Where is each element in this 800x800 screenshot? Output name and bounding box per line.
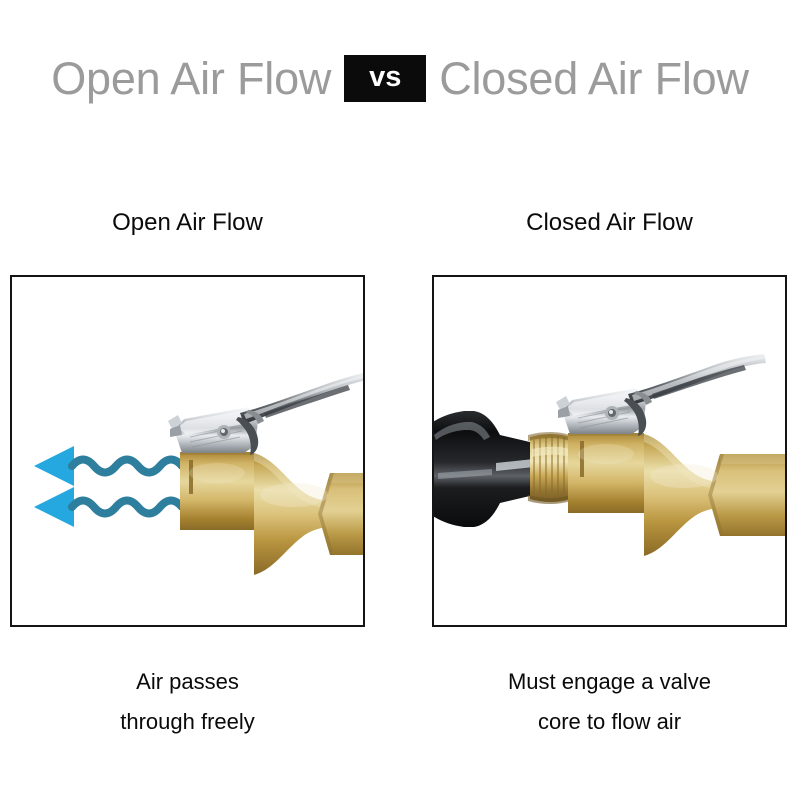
illustration-open-air-flow bbox=[12, 277, 363, 625]
air-flow-arrow-lower bbox=[34, 487, 182, 527]
chrome-clamp-lever bbox=[556, 354, 766, 436]
brass-tire-chuck bbox=[180, 452, 363, 575]
main-title-left: Open Air Flow bbox=[51, 56, 331, 101]
air-flow-arrows bbox=[34, 446, 182, 527]
panel-heading-closed: Closed Air Flow bbox=[432, 208, 787, 238]
panel-closed-air-flow bbox=[432, 275, 787, 627]
caption-line-1: Must engage a valve bbox=[432, 662, 787, 702]
main-title: Open Air Flow vs Closed Air Flow bbox=[0, 46, 800, 110]
hex-nut bbox=[318, 473, 363, 555]
caption-line-2: through freely bbox=[10, 702, 365, 742]
caption-open-air-flow: Air passes through freely bbox=[10, 662, 365, 742]
vs-badge: vs bbox=[344, 55, 426, 102]
chrome-clamp-lever bbox=[168, 373, 363, 455]
caption-line-1: Air passes bbox=[10, 662, 365, 702]
brass-tire-chuck bbox=[568, 433, 785, 556]
air-flow-arrow-upper bbox=[34, 446, 182, 486]
caption-closed-air-flow: Must engage a valve core to flow air bbox=[432, 662, 787, 742]
panel-open-air-flow bbox=[10, 275, 365, 627]
panel-heading-open: Open Air Flow bbox=[10, 208, 365, 238]
illustration-closed-air-flow bbox=[434, 277, 785, 625]
caption-line-2: core to flow air bbox=[432, 702, 787, 742]
black-rubber-hose bbox=[434, 411, 534, 527]
knurled-brass-collar bbox=[528, 432, 570, 504]
main-title-right: Closed Air Flow bbox=[439, 56, 749, 101]
